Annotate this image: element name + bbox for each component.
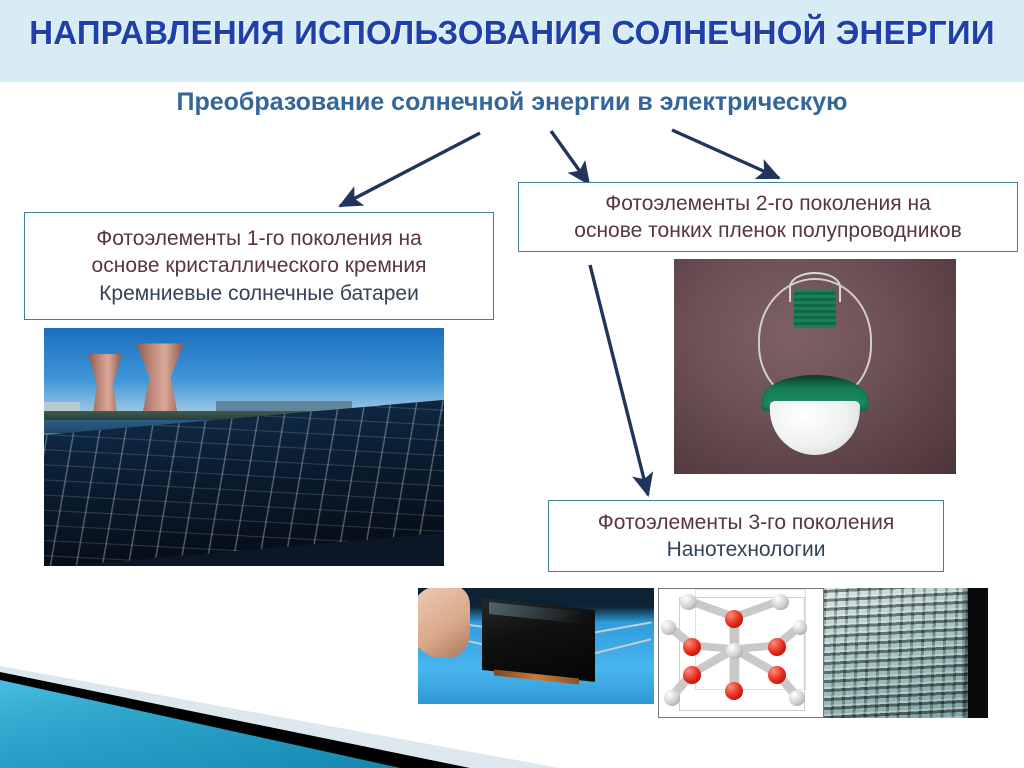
lamp-white-globe: [770, 401, 860, 455]
arrow-to-second-generation-left: [551, 131, 589, 184]
arrow-to-third-generation: [590, 265, 648, 495]
box1-line1: Фотоэлементы 1-го поколения на: [96, 225, 422, 252]
box2-line2: основе тонких пленок полупроводников: [574, 217, 961, 244]
box1-line2: основе кристаллического кремния: [92, 252, 427, 279]
box2-line1: Фотоэлементы 2-го поколения на: [605, 190, 931, 217]
box3-line2: Нанотехнологии: [667, 536, 826, 563]
box1-line3: Кремниевые солнечные батареи: [99, 280, 419, 307]
bottom-decoration: [0, 608, 1024, 768]
green-solar-lamp-photo: [674, 259, 956, 474]
arrow-to-first-generation: [340, 133, 480, 206]
solar-panel-farm-photo: [44, 328, 444, 566]
subtitle: Преобразование солнечной энергии в элект…: [0, 88, 1024, 117]
second-generation-box: Фотоэлементы 2-го поколения на основе то…: [518, 182, 1018, 252]
box3-line1: Фотоэлементы 3-го поколения: [598, 509, 894, 536]
arrow-to-second-generation-right: [672, 130, 779, 178]
first-generation-box: Фотоэлементы 1-го поколения на основе кр…: [24, 212, 494, 320]
presentation-slide: НАПРАВЛЕНИЯ ИСПОЛЬЗОВАНИЯ СОЛНЕЧНОЙ ЭНЕР…: [0, 0, 1024, 768]
page-title: НАПРАВЛЕНИЯ ИСПОЛЬЗОВАНИЯ СОЛНЕЧНОЙ ЭНЕР…: [0, 14, 1024, 52]
third-generation-box: Фотоэлементы 3-го поколения Нанотехнолог…: [548, 500, 944, 572]
